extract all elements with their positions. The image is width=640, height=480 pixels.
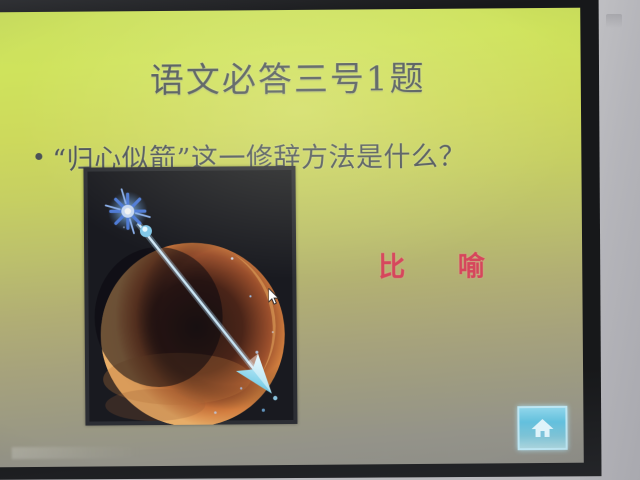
slide-title: 语文必答三号1题 [0, 50, 581, 104]
home-icon [530, 417, 554, 439]
bullet-dot-icon [35, 153, 42, 160]
wall-smudge [606, 14, 622, 28]
home-button[interactable] [517, 406, 567, 450]
projector-photo: 语文必答三号1题 “归心似箭”这一修辞方法是什么？ 比 喻 [0, 0, 640, 480]
answer-text: 比 喻 [378, 244, 488, 284]
screen-smudge [12, 446, 142, 459]
slide-picture [83, 166, 297, 426]
slide-content: 语文必答三号1题 “归心似箭”这一修辞方法是什么？ 比 喻 [0, 8, 584, 468]
arrow-planet-illustration [83, 166, 297, 426]
projected-slide: 语文必答三号1题 “归心似箭”这一修辞方法是什么？ 比 喻 [0, 8, 584, 468]
